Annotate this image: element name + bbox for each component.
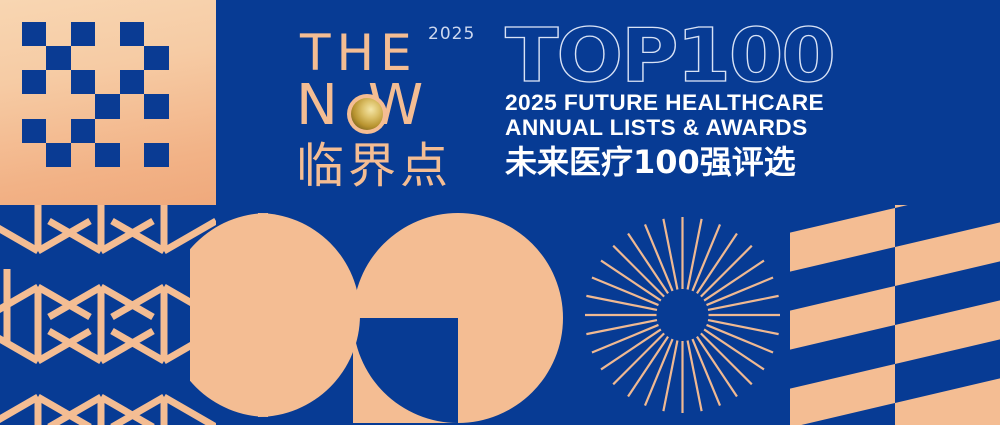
pixel-cell — [120, 70, 144, 94]
brand-year-superscript: 2025 — [428, 26, 475, 43]
pixel-cell — [120, 143, 144, 167]
headline-subtitle-line1: 2025 FUTURE HEALTHCARE — [505, 92, 848, 114]
pixel-cell — [22, 46, 46, 70]
pixel-cell — [169, 119, 193, 143]
pixel-cell — [120, 94, 144, 118]
pixel-cell — [169, 46, 193, 70]
semicircle-left — [190, 213, 268, 417]
sunburst-ray — [663, 341, 677, 412]
pixel-cell — [120, 119, 144, 143]
pixel-cell — [144, 70, 168, 94]
pixel-cell — [169, 22, 193, 46]
pixel-cell — [22, 143, 46, 167]
pixel-cell — [169, 143, 193, 167]
pixel-cell — [95, 22, 119, 46]
sunburst-ray — [708, 296, 779, 310]
headline-block: TOP100 2025 FUTURE HEALTHCARE ANNUAL LIS… — [505, 22, 845, 179]
pixel-cell — [120, 22, 144, 46]
pixel-cell — [71, 94, 95, 118]
pixel-cell — [22, 167, 46, 191]
pixel-cell — [71, 22, 95, 46]
pixel-cell — [169, 94, 193, 118]
cube-hexagon-lattice-icon — [0, 205, 216, 425]
brand-lockup: THE 2025 NW 临界点 — [296, 22, 486, 192]
pixel-cell — [46, 167, 70, 191]
pixel-cell — [169, 167, 193, 191]
pixel-cell — [46, 143, 70, 167]
pixel-cell — [22, 94, 46, 118]
pixel-cell — [22, 119, 46, 143]
pixel-cell — [120, 46, 144, 70]
sunburst-block — [585, 205, 780, 425]
pixel-cell — [46, 46, 70, 70]
pixel-cell — [95, 70, 119, 94]
pixel-cell — [46, 22, 70, 46]
pixel-cell — [169, 70, 193, 94]
pixel-cell — [46, 94, 70, 118]
headline-title-top100: TOP100 — [505, 22, 865, 90]
pixel-cell — [144, 46, 168, 70]
pixel-cell — [144, 143, 168, 167]
brand-word-the: THE — [300, 28, 418, 78]
sunburst-ray — [663, 219, 677, 290]
pixel-cell — [22, 70, 46, 94]
circle-with-square-notch — [353, 213, 563, 423]
pixel-cell — [95, 119, 119, 143]
pixel-cell — [71, 167, 95, 191]
pixel-grid — [22, 22, 193, 191]
pixel-cell — [71, 70, 95, 94]
headline-subtitle-chinese: 未来医疗100强评选 — [505, 145, 845, 179]
pixel-cell — [144, 119, 168, 143]
circles-block — [190, 205, 590, 425]
pixel-grid-block — [0, 0, 216, 205]
hexagon-lattice-block — [0, 205, 216, 425]
pixel-cell — [120, 167, 144, 191]
pixel-cell — [71, 119, 95, 143]
stripes-panel-left — [790, 205, 895, 425]
gold-orb-icon — [347, 94, 387, 134]
pixel-cell — [144, 22, 168, 46]
sunburst-ray — [688, 219, 702, 290]
pixel-cell — [144, 94, 168, 118]
pixel-cell — [46, 70, 70, 94]
pixel-cell — [22, 22, 46, 46]
pixel-cell — [95, 143, 119, 167]
sunburst-ray — [586, 320, 657, 334]
pixel-cell — [95, 167, 119, 191]
sunburst-ray — [708, 320, 779, 334]
pixel-cell — [46, 119, 70, 143]
pixel-cell — [71, 143, 95, 167]
radial-sunburst-icon — [585, 205, 780, 425]
brand-chinese-name: 临界点 — [296, 140, 452, 192]
sunburst-ray — [586, 296, 657, 310]
pixel-cell — [144, 167, 168, 191]
poster-banner: THE 2025 NW 临界点 TOP100 2025 FUTURE HEALT… — [0, 0, 1000, 425]
pixel-cell — [71, 46, 95, 70]
diagonal-stripes-block — [790, 205, 1000, 425]
semicircle-right — [258, 213, 360, 417]
headline-subtitle-line2: ANNUAL LISTS & AWARDS — [505, 117, 848, 139]
pixel-cell — [95, 46, 119, 70]
circle-shapes-icon — [190, 205, 590, 425]
diagonal-stripes-icon — [790, 205, 1000, 425]
stripes-panel-right — [895, 205, 1000, 425]
pixel-cell — [95, 94, 119, 118]
sunburst-ray — [688, 341, 702, 412]
